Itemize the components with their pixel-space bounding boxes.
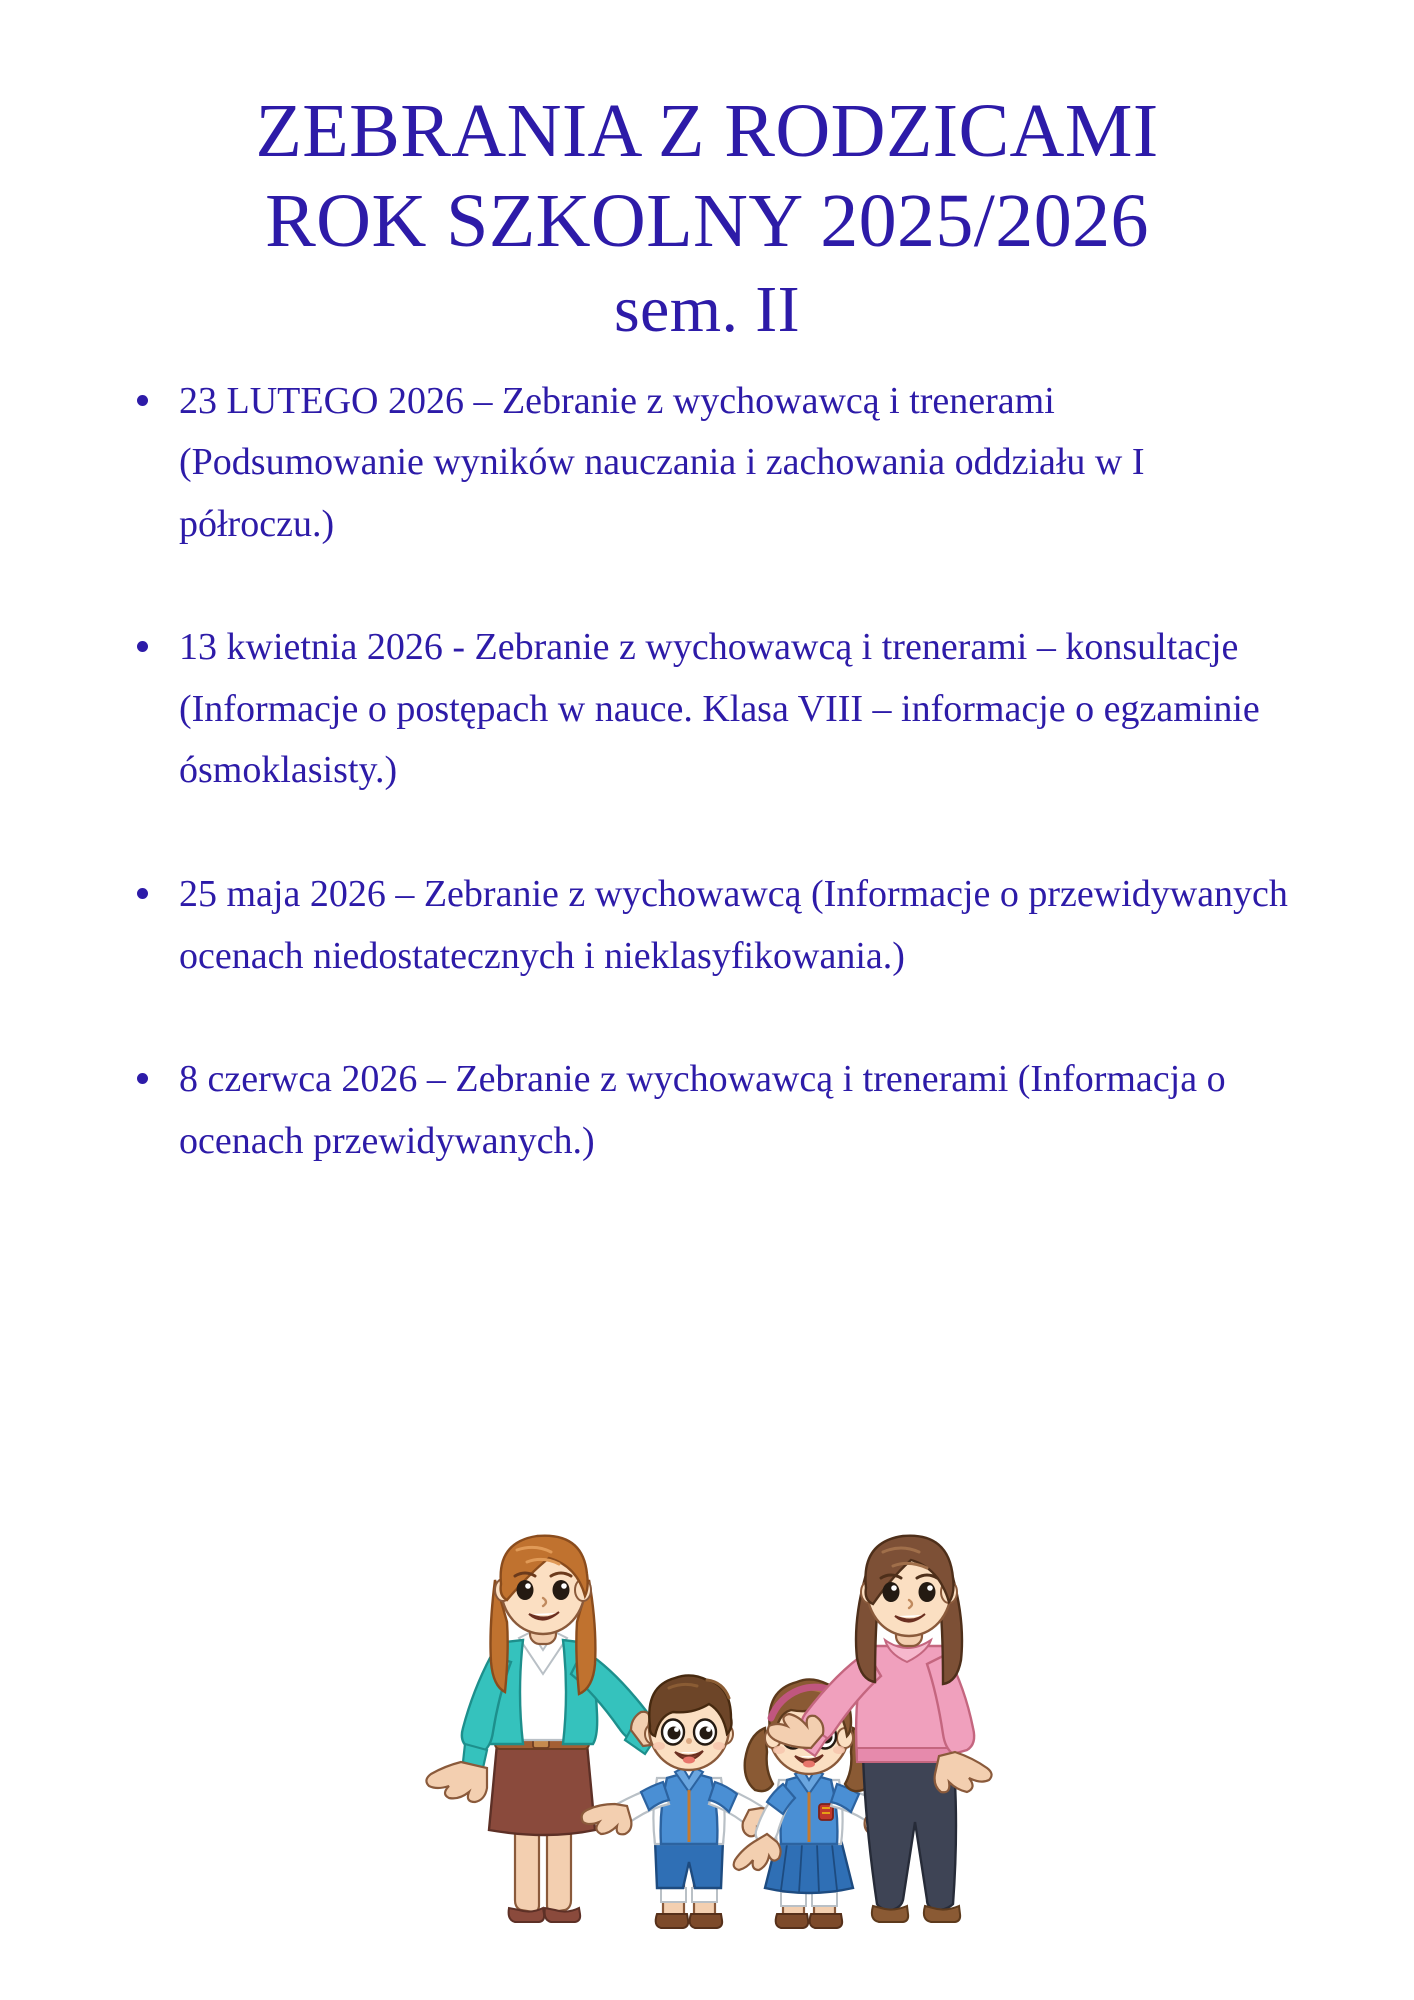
meeting-text: 13 kwietnia 2026 - Zebranie z wychowawcą… (179, 626, 1260, 791)
bullet-dot-icon (137, 1073, 148, 1084)
poster-title: ZEBRANIA Z RODZICAMI ROK SZKOLNY 2025/20… (157, 0, 1257, 353)
bullet-dot-icon (137, 395, 148, 406)
title-line-1: ZEBRANIA Z RODZICAMI (157, 86, 1257, 176)
poster-canvas: ZEBRANIA Z RODZICAMI ROK SZKOLNY 2025/20… (0, 0, 1414, 2000)
meeting-text: 23 LUTEGO 2026 – Zebranie z wychowawcą i… (179, 380, 1145, 545)
illustration-container (0, 1522, 1414, 1942)
two-parents-and-two-children-illustration (387, 1522, 1027, 1942)
bullet-dot-icon (137, 641, 148, 652)
meetings-list: 23 LUTEGO 2026 – Zebranie z wychowawcą i… (117, 371, 1297, 1172)
title-line-2: ROK SZKOLNY 2025/2026 (157, 176, 1257, 266)
list-item: 8 czerwca 2026 – Zebranie z wychowawcą i… (117, 1049, 1297, 1172)
title-line-3: sem. II (157, 267, 1257, 353)
list-item: 13 kwietnia 2026 - Zebranie z wychowawcą… (117, 617, 1297, 802)
meeting-text: 8 czerwca 2026 – Zebranie z wychowawcą i… (179, 1058, 1226, 1162)
list-item: 23 LUTEGO 2026 – Zebranie z wychowawcą i… (117, 371, 1297, 556)
bullet-dot-icon (137, 888, 148, 899)
list-item: 25 maja 2026 – Zebranie z wychowawcą (In… (117, 864, 1297, 987)
meeting-text: 25 maja 2026 – Zebranie z wychowawcą (In… (179, 873, 1288, 977)
